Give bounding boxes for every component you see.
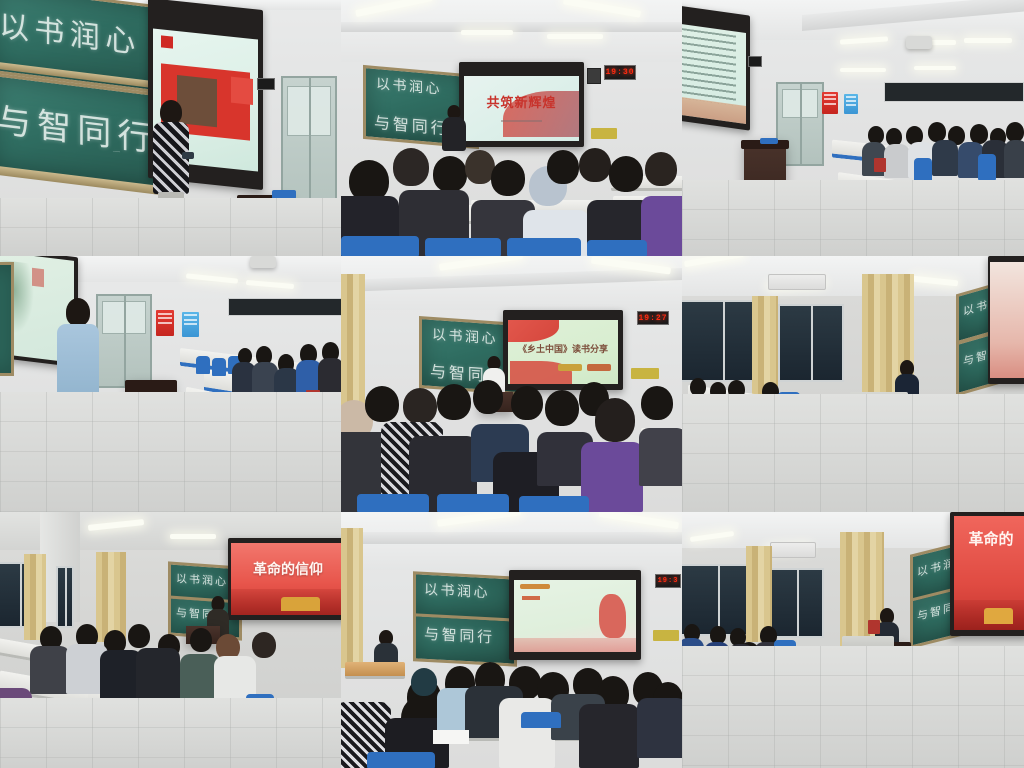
projector-screen: 《乡土中国》读书分享 [508,320,618,384]
wall-clock [257,78,275,90]
wall-clock: 19:3 [655,574,681,588]
clock-time: 19:3 [658,577,679,585]
wall-clock: 19:27 [637,311,669,325]
wall-poster-blue [844,94,858,114]
ceiling-vent [884,82,1024,102]
wall-clock: 19:30 [604,65,636,80]
photo-tile-9: 以书润心 与智同行 革命的 [682,512,1024,768]
blackboard-line-1: 以书润心 [432,324,498,349]
photo-tile-1: 以书润心 与智同行 — [0,0,341,256]
slide-title: 革命的信仰 [231,559,341,579]
wall-poster-red [822,92,838,114]
projector-screen-frame [682,4,750,130]
blackboard-line-1: 以书润心 [0,1,141,62]
blackboard-line-1: 以书润心 [424,579,490,602]
projector-screen: 共筑新辉煌 [464,76,579,141]
slide-title: 革命的 [954,528,1024,549]
photo-collage: 以书润心 与智同行 — [0,0,1024,768]
blackboard-lower: 与智同行 [413,613,517,666]
clock-time: 19:27 [638,314,667,323]
red-book [868,620,880,634]
blackboard-line-2: 与智同行 [424,623,495,648]
blackboard-signature: — [113,147,121,156]
clock-time: 19:30 [605,68,634,77]
presenter [441,105,467,151]
photo-tile-7: 以书润心 与智同行 革命的信仰 [0,512,341,768]
slide-title: 共筑新辉煌 [464,92,579,111]
slide-title: 《乡土中国》读书分享 [508,342,618,355]
photo-tile-3 [682,0,1024,256]
photo-tile-2: 以书润心 与智同行 共筑新辉煌 19:30 [341,0,682,256]
photo-tile-8: 以书润心 与智同行 19:3 [341,512,682,768]
projector-screen [514,580,636,652]
blackboard-line-2: 与智同行 [0,93,157,162]
projector-screen [682,23,746,124]
wall-poster-red [156,310,174,336]
wall-poster-blue [182,312,199,337]
classroom-door[interactable] [96,294,152,388]
blackboard-line-1: 以书润心 [176,570,228,590]
projector-screen: 革命的信仰 [231,543,341,615]
photo-tile-5: 以书润心 与智同行 《乡土中国》读书分享 19:27 [341,256,682,512]
photo-tile-6: 以书润心 与智同行 [682,256,1024,512]
ceiling-projector [906,36,932,49]
night-window [778,304,844,382]
photo-tile-4 [0,256,341,512]
projector-screen: 革命的 [954,516,1024,630]
projector-screen-frame: 共筑新辉煌 [459,62,584,147]
blackboard-line-2: 与智同行 [374,109,450,140]
blackboard-line-1: 以书润心 [376,73,442,99]
red-book [874,158,886,172]
